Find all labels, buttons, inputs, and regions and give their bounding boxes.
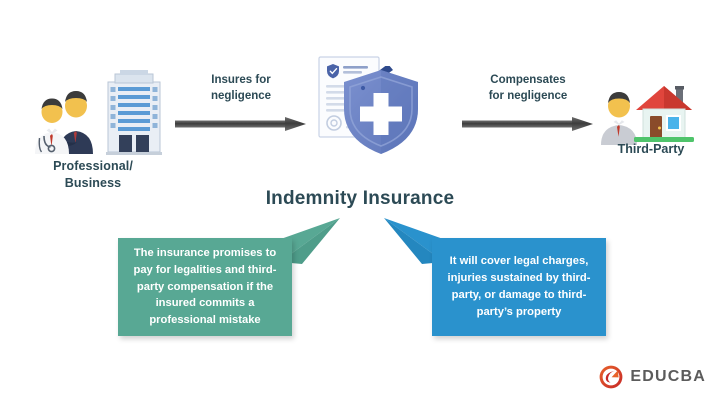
office-building-icon <box>104 68 164 156</box>
left-actor-label: Professional/ Business <box>18 158 168 192</box>
compensates-arrow-group: Compensates for negligence <box>462 72 594 134</box>
right-actor-group: Third-Party <box>596 78 706 174</box>
insures-arrow-label-line1: Insures for <box>175 72 307 88</box>
compensates-arrow-label: Compensates for negligence <box>462 72 594 104</box>
blue-callout-text: It will cover legal charges, injuries su… <box>446 253 592 320</box>
infographic-canvas: Professional/ Business Insures for negli… <box>0 0 720 404</box>
left-actor-label-line2: Business <box>18 175 168 192</box>
left-actor-group: Professional/ Business <box>18 62 168 192</box>
compensates-arrow-label-line1: Compensates <box>462 72 594 88</box>
compensates-arrow-label-line2: for negligence <box>462 88 594 104</box>
arrow-right-icon <box>175 116 307 132</box>
green-callout-text: The insurance promises to pay for legali… <box>132 245 278 329</box>
insures-arrow-label: Insures for negligence <box>175 72 307 104</box>
educba-logo: EDUCBA <box>598 364 706 390</box>
blue-callout-box: It will cover legal charges, injuries su… <box>432 238 606 336</box>
house-icon <box>634 82 694 148</box>
arrow-right-icon <box>462 116 594 132</box>
insures-arrow-group: Insures for negligence <box>175 72 307 134</box>
professional-people-icon <box>26 90 104 156</box>
green-callout-box: The insurance promises to pay for legali… <box>118 238 292 336</box>
shield-plus-icon <box>340 66 422 158</box>
insures-arrow-label-line2: negligence <box>175 88 307 104</box>
educba-logo-text: EDUCBA <box>630 368 706 386</box>
educba-swirl-icon <box>598 364 624 390</box>
indemnity-insurance-icon-group <box>300 52 420 162</box>
left-actor-label-line1: Professional/ <box>18 158 168 175</box>
right-actor-label: Third-Party <box>588 142 714 156</box>
page-title: Indemnity Insurance <box>160 188 560 210</box>
